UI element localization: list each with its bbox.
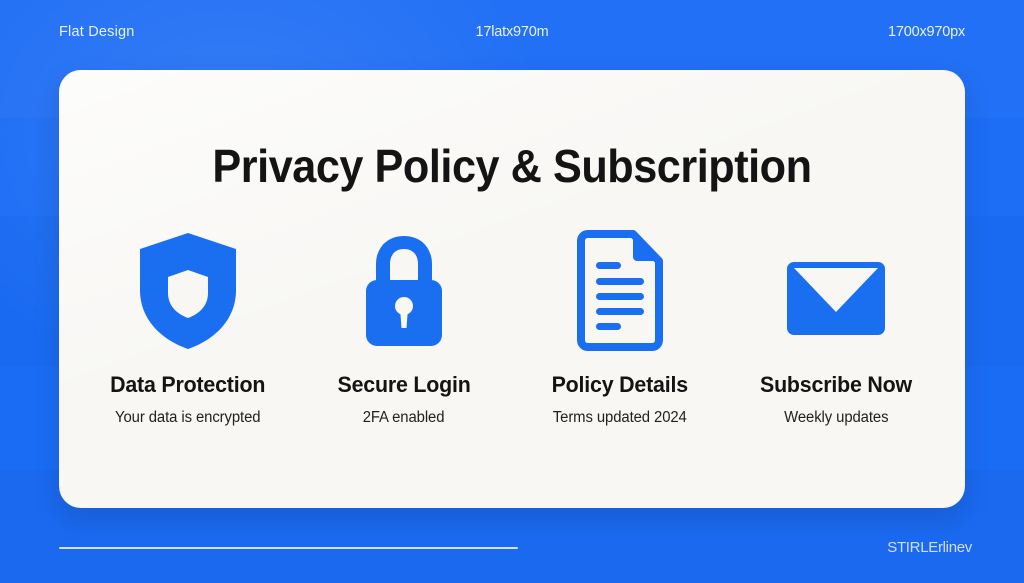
feature-card-subscribe-now[interactable]: Subscribe Now Weekly updates bbox=[729, 230, 943, 427]
header-center-label: 17latx970m bbox=[476, 24, 549, 40]
feature-subtitle: Your data is encrypted bbox=[115, 409, 260, 427]
document-icon bbox=[577, 230, 663, 352]
feature-title: Policy Details bbox=[552, 372, 688, 398]
feature-card-secure-login[interactable]: Secure Login 2FA enabled bbox=[297, 230, 511, 427]
feature-card-policy-details[interactable]: Policy Details Terms updated 2024 bbox=[513, 230, 727, 427]
content-card: Privacy Policy & Subscription Data Prote… bbox=[59, 70, 965, 508]
footer-brand-label: STIRLErlinev bbox=[887, 539, 972, 556]
slide-canvas: Flat Design 17latx970m 1700x970px Privac… bbox=[0, 0, 1024, 583]
feature-title: Data Protection bbox=[110, 372, 265, 398]
feature-subtitle: 2FA enabled bbox=[363, 409, 445, 427]
feature-title: Subscribe Now bbox=[760, 372, 912, 398]
feature-title: Secure Login bbox=[337, 372, 470, 398]
feature-subtitle: Terms updated 2024 bbox=[553, 409, 687, 427]
page-title: Privacy Policy & Subscription bbox=[86, 143, 938, 189]
header-bar: Flat Design 17latx970m 1700x970px bbox=[0, 0, 1024, 62]
lock-icon bbox=[359, 230, 449, 352]
envelope-icon bbox=[782, 230, 890, 352]
feature-card-data-protection[interactable]: Data Protection Your data is encrypted bbox=[81, 230, 295, 427]
feature-subtitle: Weekly updates bbox=[784, 409, 888, 427]
footer-divider bbox=[59, 547, 518, 549]
header-style-label: Flat Design bbox=[59, 24, 135, 40]
feature-row: Data Protection Your data is encrypted S… bbox=[81, 230, 943, 427]
header-dimensions-label: 1700x970px bbox=[888, 24, 965, 40]
shield-icon bbox=[136, 230, 240, 352]
